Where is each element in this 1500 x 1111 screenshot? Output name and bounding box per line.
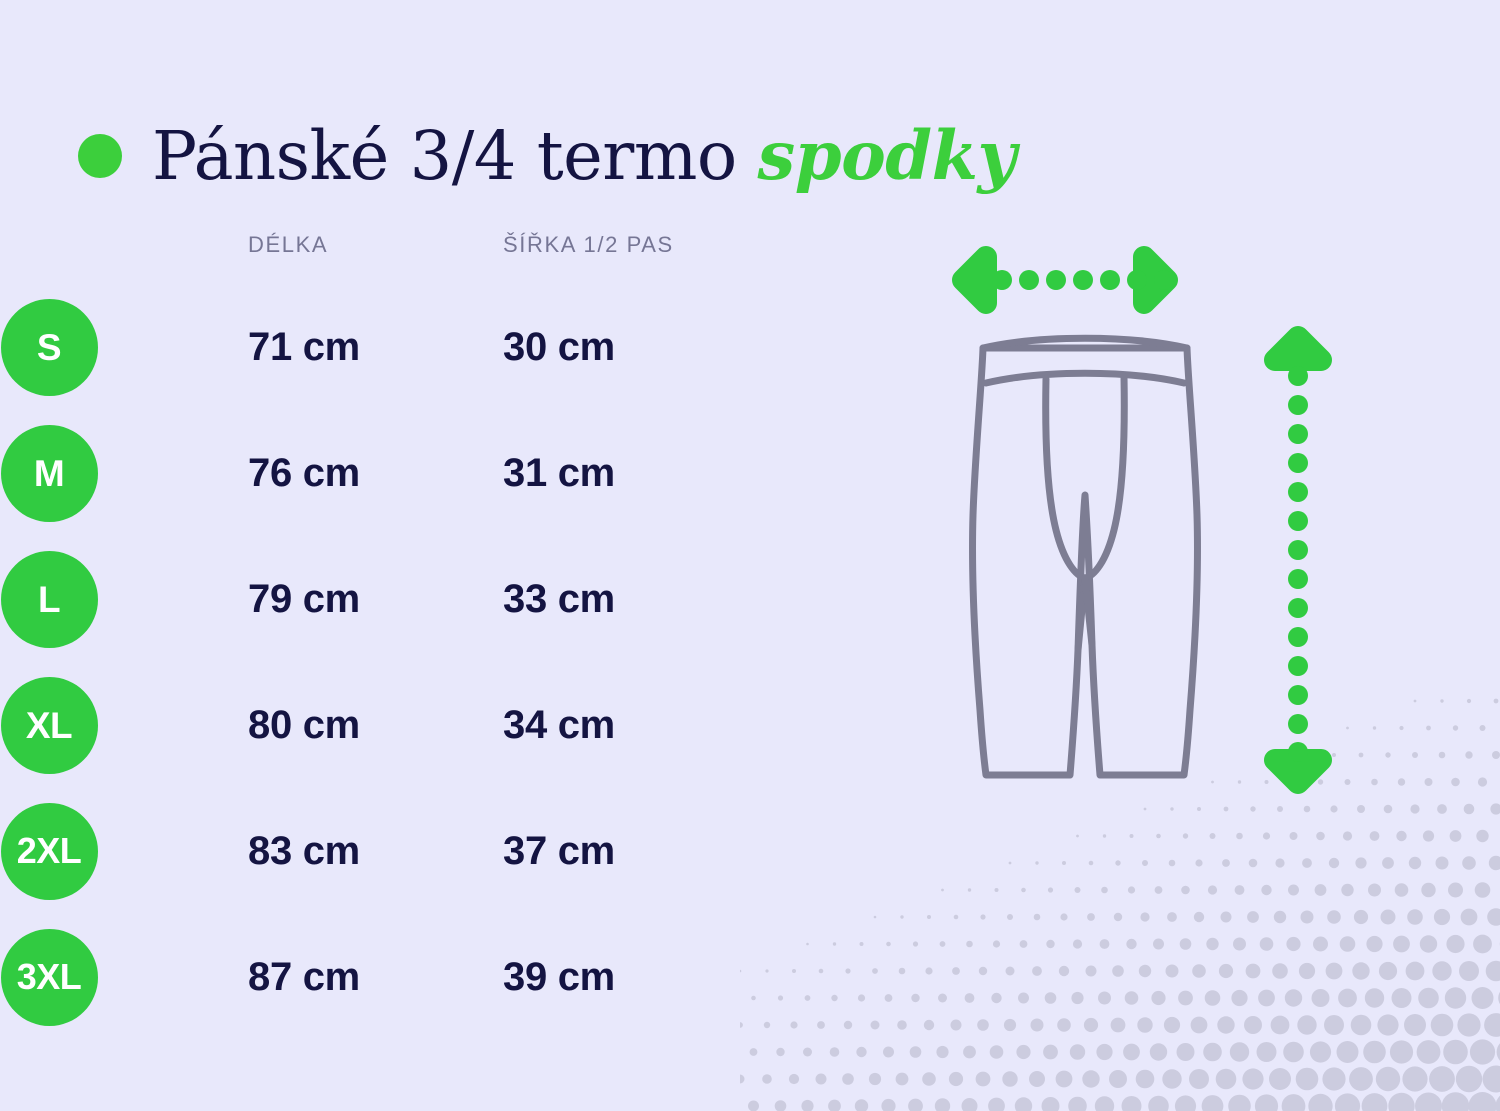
green-dot-icon (78, 134, 122, 178)
size-badge: 3XL (1, 929, 98, 1026)
length-value: 87 cm (230, 955, 491, 1000)
page-title: Pánské 3/4 termo spodky (78, 76, 1016, 236)
size-badge: L (1, 551, 98, 648)
length-value: 76 cm (230, 451, 491, 496)
title-accent: spodky (758, 116, 1016, 195)
length-value: 83 cm (230, 829, 491, 874)
table-row: 2XL83 cm37 cm (0, 788, 700, 914)
width-value: 39 cm (491, 955, 746, 1000)
size-table: DÉLKA ŠÍŘKA 1/2 PAS S71 cm30 cmM76 cm31 … (0, 232, 700, 1040)
garment-illustration (930, 240, 1370, 800)
table-header-row: DÉLKA ŠÍŘKA 1/2 PAS (0, 232, 700, 284)
size-badge-cell: 2XL (0, 803, 230, 900)
size-badge: XL (1, 677, 98, 774)
width-value: 34 cm (491, 703, 746, 748)
size-badge-cell: XL (0, 677, 230, 774)
three-quarter-thermal-pants-icon (973, 338, 1198, 775)
table-row: 3XL87 cm39 cm (0, 914, 700, 1040)
width-value: 33 cm (491, 577, 746, 622)
vertical-double-arrow-icon (1275, 337, 1321, 783)
size-badge-cell: 3XL (0, 929, 230, 1026)
length-value: 79 cm (230, 577, 491, 622)
table-row: L79 cm33 cm (0, 536, 700, 662)
header-width: ŠÍŘKA 1/2 PAS (491, 232, 746, 258)
length-value: 80 cm (230, 703, 491, 748)
table-row: M76 cm31 cm (0, 410, 700, 536)
size-badge: 2XL (1, 803, 98, 900)
size-badge-cell: M (0, 425, 230, 522)
width-value: 31 cm (491, 451, 746, 496)
table-body: S71 cm30 cmM76 cm31 cmL79 cm33 cmXL80 cm… (0, 284, 700, 1040)
size-badge-cell: S (0, 299, 230, 396)
length-value: 71 cm (230, 325, 491, 370)
width-value: 37 cm (491, 829, 746, 874)
size-badge: S (1, 299, 98, 396)
title-text: Pánské 3/4 termo spodky (152, 121, 1016, 191)
title-main: Pánské 3/4 termo (152, 117, 758, 195)
size-badge-cell: L (0, 551, 230, 648)
header-length: DÉLKA (230, 232, 491, 258)
table-row: S71 cm30 cm (0, 284, 700, 410)
table-row: XL80 cm34 cm (0, 662, 700, 788)
width-value: 30 cm (491, 325, 746, 370)
size-badge: M (1, 425, 98, 522)
horizontal-double-arrow-icon (963, 257, 1174, 303)
